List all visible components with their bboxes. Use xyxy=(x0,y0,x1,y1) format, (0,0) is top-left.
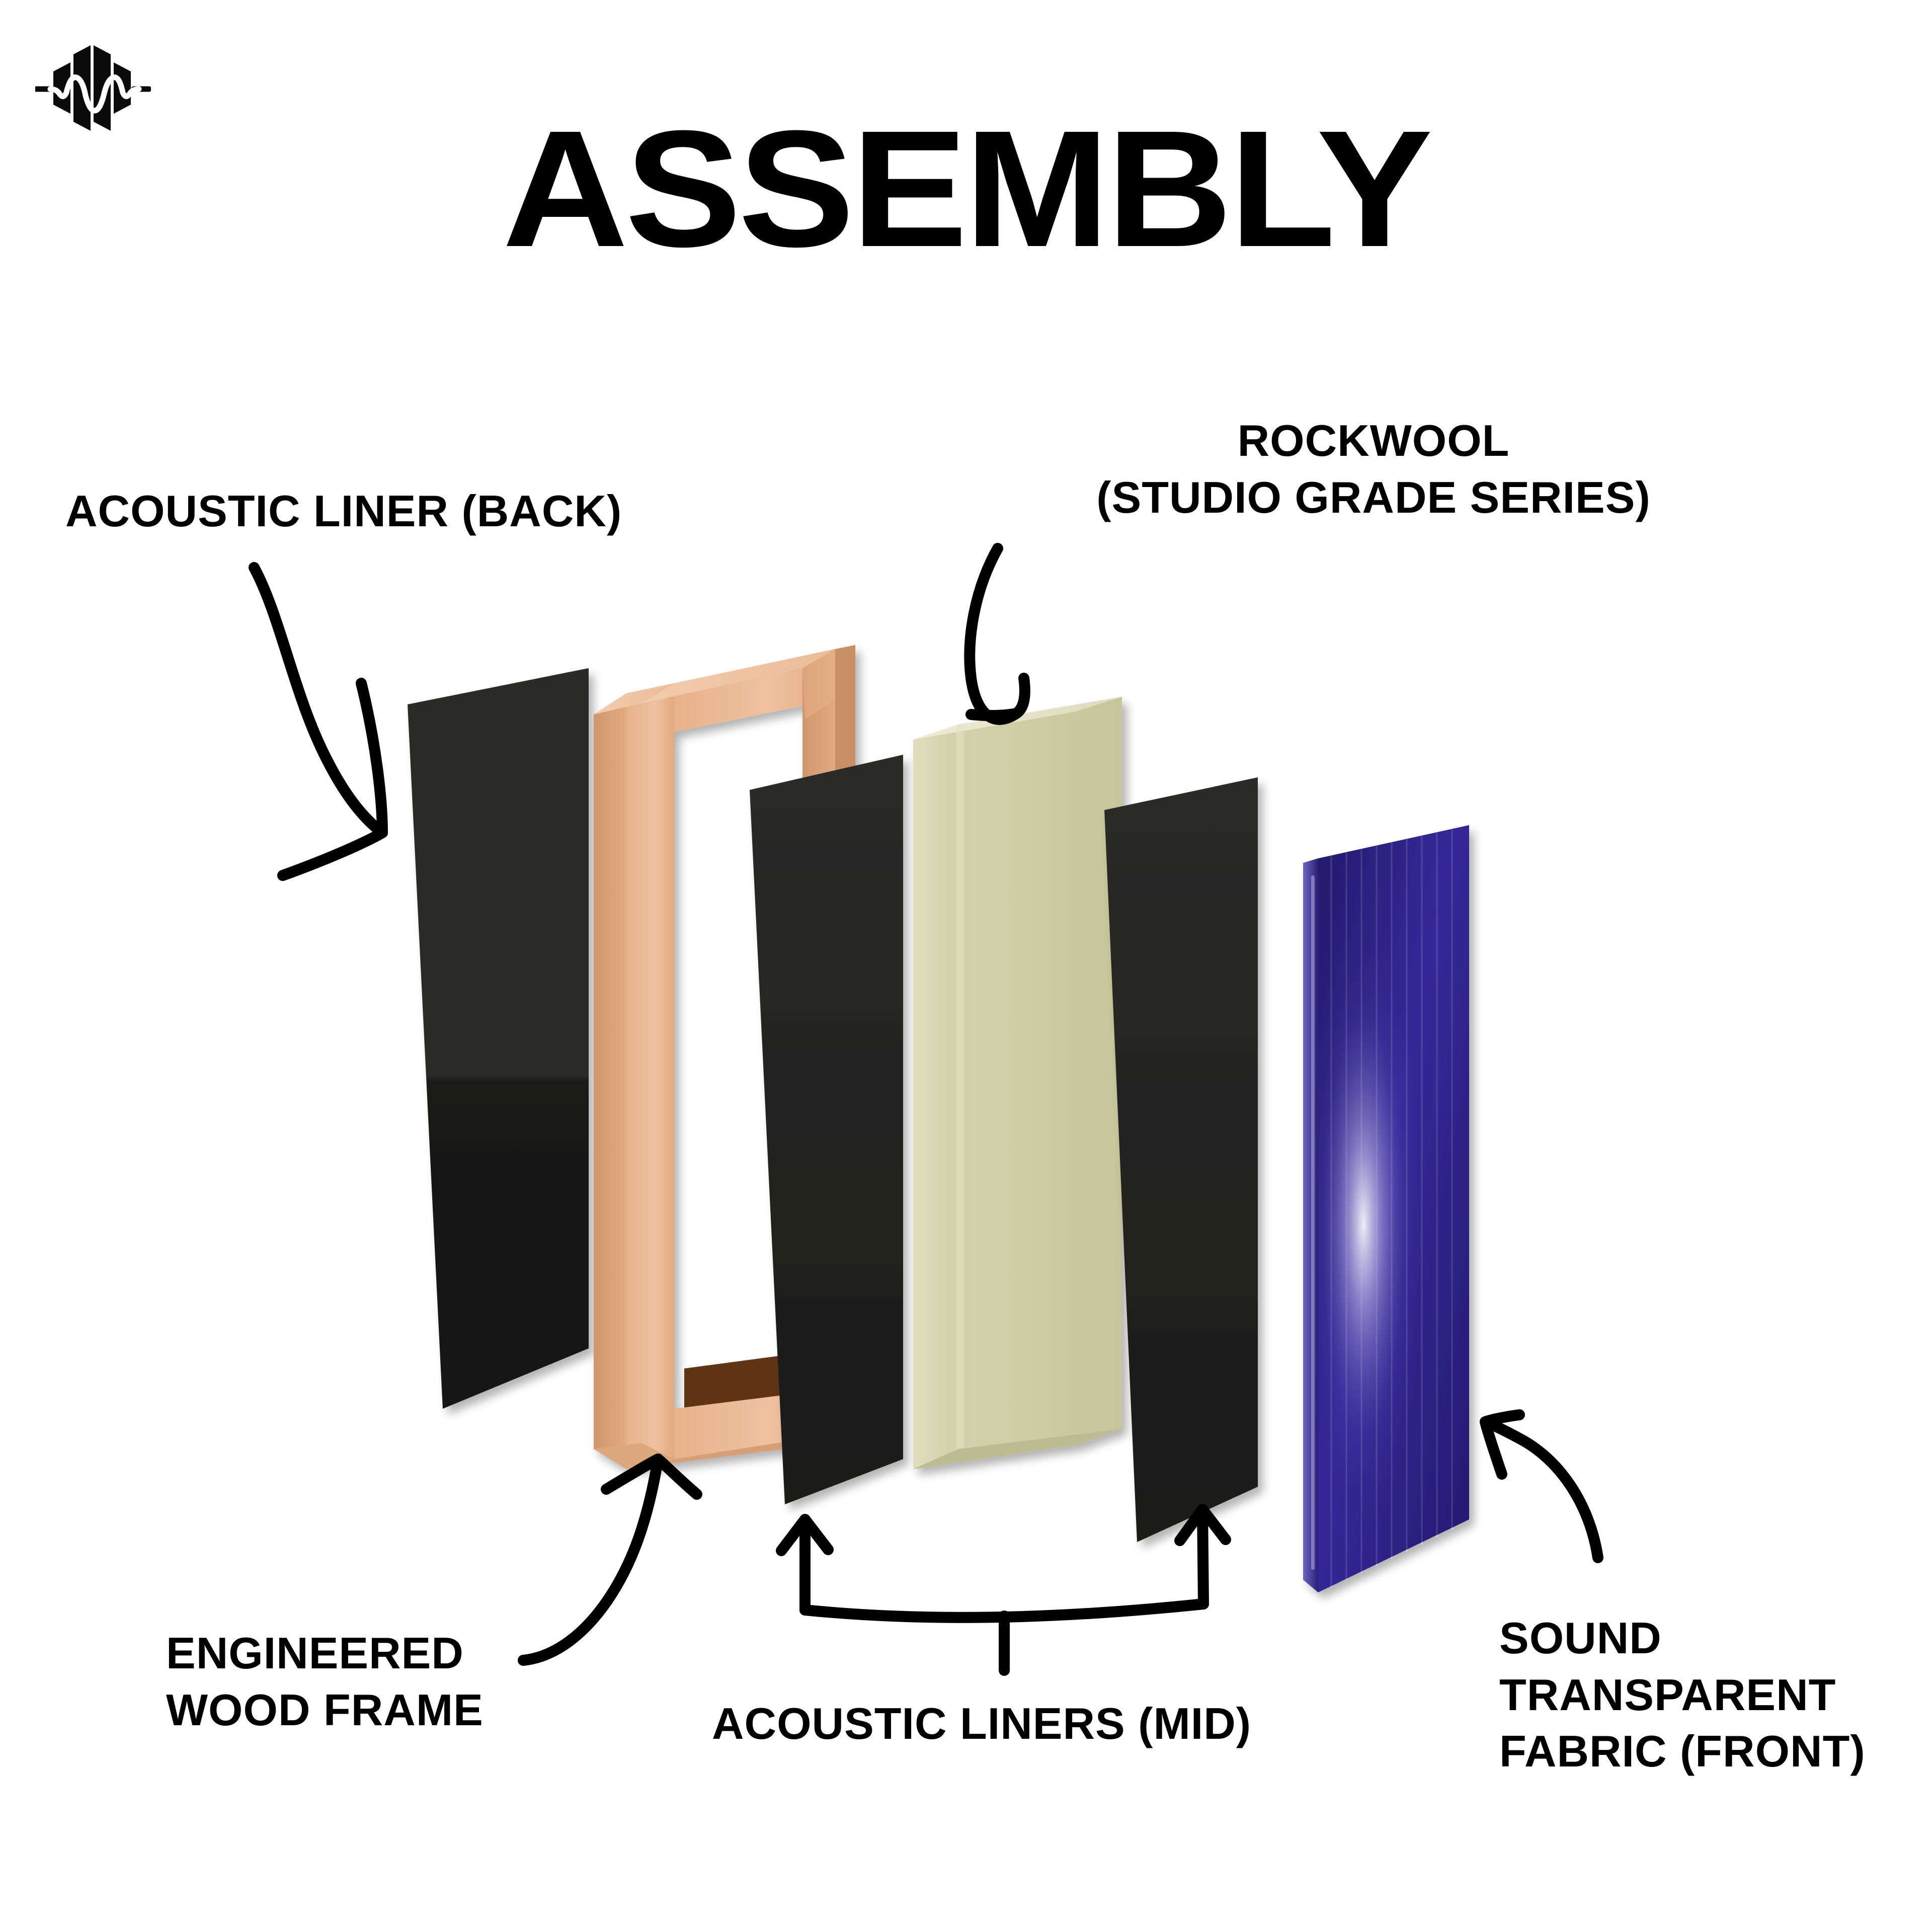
arrow-engineered-wood-frame xyxy=(523,1459,697,1660)
layer-acoustic-liner-back xyxy=(408,668,589,1409)
layer-sound-transparent-fabric xyxy=(1303,825,1469,1592)
label-acoustic-liner-back: ACOUSTIC LINER (BACK) xyxy=(65,483,622,540)
arrow-acoustic-liner-back xyxy=(254,568,382,875)
assembly-diagram-canvas: ASSEMBLY xyxy=(0,0,1932,1932)
arrow-rockwool xyxy=(970,548,1025,719)
layer-acoustic-liner-mid-2 xyxy=(1104,777,1258,1542)
arrow-acoustic-liners-mid xyxy=(781,1509,1226,1670)
label-rockwool: ROCKWOOL (STUDIO GRADE SERIES) xyxy=(1006,413,1741,526)
label-acoustic-liners-mid: ACOUSTIC LINERS (MID) xyxy=(712,1696,1251,1752)
label-engineered-wood-frame: ENGINEERED WOOD FRAME xyxy=(166,1625,484,1738)
arrow-sound-transparent-fabric xyxy=(1485,1415,1598,1558)
layer-rockwool xyxy=(913,697,1122,1469)
label-sound-transparent-fabric: SOUND TRANSPARENT FABRIC (FRONT) xyxy=(1499,1610,1866,1780)
